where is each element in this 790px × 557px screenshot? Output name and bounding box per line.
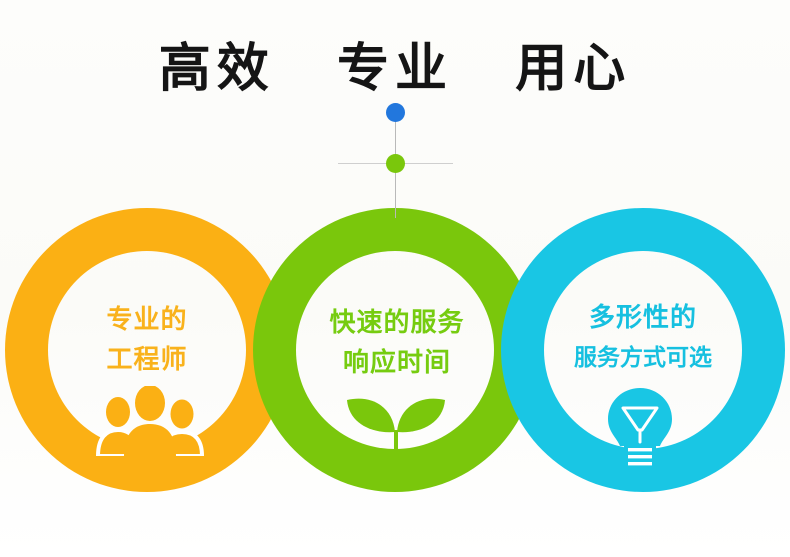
pin-bottom-dot-icon [386,154,405,173]
location-pin-decoration [395,104,396,208]
title-word-3: 用心 [515,26,631,101]
pin-top-dot-icon [386,103,405,122]
title-word-2: 专业 [337,26,453,101]
title-word-1: 高效 [159,26,275,101]
page-title: 高效 专业 用心 [0,26,790,101]
feature-circles-banner: 高效 专业 用心 [0,0,790,557]
